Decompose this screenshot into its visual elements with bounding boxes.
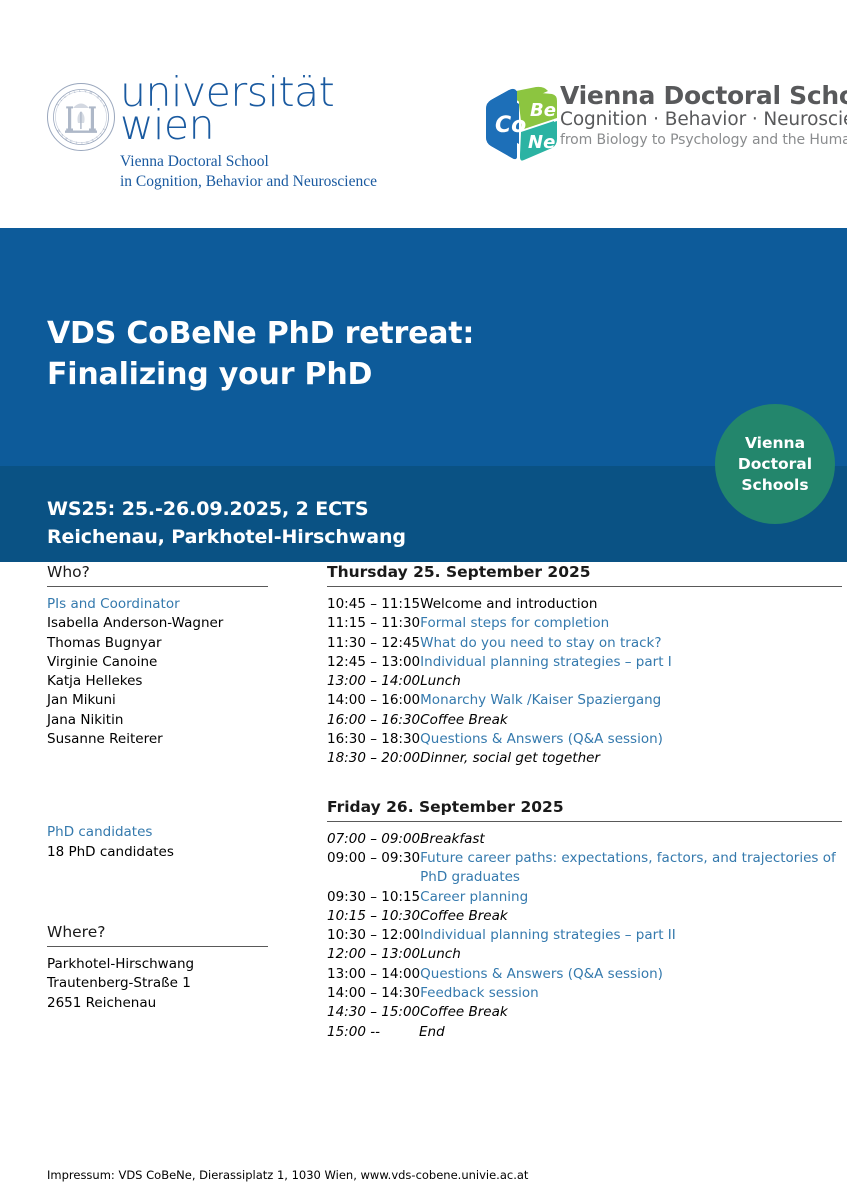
schedule-row: 16:00 – 16:30 Coffee Break — [327, 711, 842, 730]
schedule-title: Individual planning strategies – part II — [420, 926, 842, 945]
badge-line2: Doctoral — [738, 454, 812, 475]
list-item: Katja Hellekes — [47, 672, 311, 691]
schedule-title: Questions & Answers (Q&A session) — [420, 730, 842, 749]
schedule-row: 14:00 – 14:30 Feedback session — [327, 984, 842, 1003]
thursday-heading: Thursday 25. September 2025 — [327, 562, 842, 586]
schedule-row: 11:15 – 11:30 Formal steps for completio… — [327, 614, 842, 633]
schedule-row: 10:15 – 10:30 Coffee Break — [327, 907, 842, 926]
who-heading: Who? — [47, 562, 311, 586]
left-column: Who? PIs and Coordinator Isabella Anders… — [47, 562, 311, 1013]
schedule-row: 09:30 – 10:15 Career planning — [327, 888, 842, 907]
schedule-row: 09:00 – 09:30 Future career paths: expec… — [327, 849, 842, 888]
schedule-time: 16:30 – 18:30 — [327, 730, 420, 749]
venue-name: Parkhotel-Hirschwang — [47, 955, 311, 974]
event-location: Reichenau, Parkhotel-Hirschwang — [47, 523, 406, 551]
where-heading: Where? — [47, 922, 311, 946]
vds-logo-line3: from Biology to Psychology and the Human… — [560, 131, 838, 149]
main-content: Who? PIs and Coordinator Isabella Anders… — [0, 562, 847, 1199]
page-title-line2: Finalizing your PhD — [47, 354, 474, 395]
schedule-time: 12:45 – 13:00 — [327, 653, 420, 672]
impressum-footer: Impressum: VDS CoBeNe, Dierassiplatz 1, … — [47, 1167, 528, 1183]
vds-logo-line1: Vienna Doctoral School — [560, 82, 838, 109]
schedule-time: 10:30 – 12:00 — [327, 926, 420, 945]
phd-candidates-label: PhD candidates — [47, 823, 311, 842]
schedule-title: Breakfast — [420, 830, 842, 849]
uniwien-wordmark: universität wien — [120, 76, 334, 142]
schedule-row: 14:30 – 15:00 Coffee Break — [327, 1003, 842, 1022]
phd-candidates-count: 18 PhD candidates — [47, 843, 311, 862]
schedule-time: 13:00 – 14:00 — [327, 672, 420, 691]
vds-logo-text: Vienna Doctoral School Cognition · Behav… — [560, 82, 838, 149]
schedule-time: 14:30 – 15:00 — [327, 1003, 420, 1022]
title-banner: VDS CoBeNe PhD retreat: Finalizing your … — [0, 228, 847, 562]
phd-candidates-section: PhD candidates 18 PhD candidates — [47, 823, 311, 862]
uniwien-subtitle-line1: Vienna Doctoral School — [120, 152, 377, 172]
svg-text:V: V — [84, 89, 88, 93]
schedule-title: Welcome and introduction — [420, 595, 842, 614]
thursday-divider — [327, 586, 842, 587]
schedule-title: Monarchy Walk /Kaiser Spaziergang — [420, 691, 842, 710]
schedule-title: Formal steps for completion — [420, 614, 842, 633]
schedule-row: 10:30 – 12:00 Individual planning strate… — [327, 926, 842, 945]
spacer — [47, 749, 311, 823]
thursday-schedule: Thursday 25. September 2025 10:45 – 11:1… — [327, 562, 842, 769]
schedule-row: 14:00 – 16:00 Monarchy Walk /Kaiser Spaz… — [327, 691, 842, 710]
event-date-ects: WS25: 25.-26.09.2025, 2 ECTS — [47, 495, 406, 523]
badge-line1: Vienna — [745, 433, 805, 454]
schedule-title: Lunch — [420, 945, 842, 964]
pis-list: Isabella Anderson-Wagner Thomas Bugnyar … — [47, 614, 311, 749]
who-divider — [47, 586, 268, 587]
uniwien-subtitle: Vienna Doctoral School in Cognition, Beh… — [120, 152, 377, 192]
where-divider — [47, 946, 268, 947]
schedule-time: 11:15 – 11:30 — [327, 614, 420, 633]
schedule-title: Career planning — [420, 888, 842, 907]
schedule-title: Questions & Answers (Q&A session) — [420, 965, 842, 984]
schedule-time: 09:00 – 09:30 — [327, 849, 420, 868]
list-item: Isabella Anderson-Wagner — [47, 614, 311, 633]
schedule-time: 10:15 – 10:30 — [327, 907, 420, 926]
schedule-time: 14:00 – 14:30 — [327, 984, 420, 1003]
uniwien-subtitle-line2: in Cognition, Behavior and Neuroscience — [120, 172, 377, 192]
svg-text:M: M — [56, 128, 62, 134]
schedule-title: Lunch — [420, 672, 842, 691]
page-title: VDS CoBeNe PhD retreat: Finalizing your … — [47, 313, 474, 395]
svg-text:M: M — [89, 90, 94, 95]
page-title-line1: VDS CoBeNe PhD retreat: — [47, 313, 474, 354]
spacer — [47, 862, 311, 922]
schedule-time: 09:30 – 10:15 — [327, 888, 420, 907]
schedule-row: 18:30 – 20:00 Dinner, social get togethe… — [327, 749, 842, 768]
schedule-row: 12:45 – 13:00 Individual planning strate… — [327, 653, 842, 672]
page-header: S I G I L L V M A C A S T I E N T I A R — [0, 0, 847, 228]
schedule-time: 18:30 – 20:00 — [327, 749, 420, 768]
schedule-title: Individual planning strategies – part I — [420, 653, 842, 672]
schedule-time: 14:00 – 16:00 — [327, 691, 420, 710]
svg-text:I: I — [59, 98, 63, 102]
vienna-doctoral-school-logo: Co Be Ne Vienna Doctoral School Cognitio… — [478, 82, 838, 162]
pis-and-coordinator-label: PIs and Coordinator — [47, 595, 311, 614]
schedule-title: Coffee Break — [420, 711, 842, 730]
badge-line3: Schools — [741, 475, 808, 496]
schedule-time: 07:00 – 09:00 — [327, 830, 420, 849]
schedule-time: 12:00 – 13:00 — [327, 945, 420, 964]
list-item: Jana Nikitin — [47, 711, 311, 730]
schedule-title: End — [419, 1023, 842, 1042]
schedule-row: 10:45 – 11:15 Welcome and introduction — [327, 595, 842, 614]
friday-divider — [327, 821, 842, 822]
cube-letter-be: Be — [530, 100, 556, 121]
venue-city: 2651 Reichenau — [47, 994, 311, 1013]
schedule-row: 16:30 – 18:30 Questions & Answers (Q&A s… — [327, 730, 842, 749]
schedule-title: Future career paths: expectations, facto… — [420, 849, 842, 888]
schedule-row: 13:00 – 14:00 Lunch — [327, 672, 842, 691]
venue-street: Trautenberg-Straße 1 — [47, 974, 311, 993]
schedule-time: 11:30 – 12:45 — [327, 634, 420, 653]
cube-letter-co: Co — [495, 113, 526, 138]
cobene-cube-logo-icon: Co Be Ne — [478, 82, 560, 162]
list-item: Susanne Reiterer — [47, 730, 311, 749]
who-section: Who? PIs and Coordinator Isabella Anders… — [47, 562, 311, 749]
vienna-doctoral-schools-badge: Vienna Doctoral Schools — [715, 404, 835, 524]
svg-text:L: L — [79, 89, 81, 93]
schedule-title: Feedback session — [420, 984, 842, 1003]
right-column: Thursday 25. September 2025 10:45 – 11:1… — [327, 562, 842, 1042]
schedule-row: 13:00 – 14:00 Questions & Answers (Q&A s… — [327, 965, 842, 984]
svg-text:G: G — [63, 94, 68, 99]
schedule-title: Dinner, social get together — [420, 749, 842, 768]
schedule-time: 16:00 – 16:30 — [327, 711, 420, 730]
list-item: Thomas Bugnyar — [47, 634, 311, 653]
friday-schedule: Friday 26. September 2025 07:00 – 09:00 … — [327, 797, 842, 1042]
schedule-row: 11:30 – 12:45 What do you need to stay o… — [327, 634, 842, 653]
schedule-time: 13:00 – 14:00 — [327, 965, 420, 984]
schedule-row: 07:00 – 09:00 Breakfast — [327, 830, 842, 849]
friday-heading: Friday 26. September 2025 — [327, 797, 842, 821]
cube-letter-ne: Ne — [528, 132, 555, 153]
schedule-title: What do you need to stay on track? — [420, 634, 842, 653]
schedule-time: 15:00 -- — [327, 1023, 419, 1042]
vds-logo-line2: Cognition · Behavior · Neuroscience — [560, 109, 838, 131]
schedule-time: 10:45 – 11:15 — [327, 595, 420, 614]
list-item: Virginie Canoine — [47, 653, 311, 672]
spacer — [327, 769, 842, 797]
list-item: Jan Mikuni — [47, 691, 311, 710]
schedule-title: Coffee Break — [420, 1003, 842, 1022]
svg-text:A: A — [69, 139, 73, 144]
university-seal-icon: S I G I L L V M A C A S T I E N T I A R — [46, 82, 116, 152]
schedule-row: 12:00 – 13:00 Lunch — [327, 945, 842, 964]
where-section: Where? Parkhotel-Hirschwang Trautenberg-… — [47, 922, 311, 1013]
schedule-row: 15:00 -- End — [327, 1023, 842, 1042]
event-details: WS25: 25.-26.09.2025, 2 ECTS Reichenau, … — [47, 495, 406, 551]
university-of-vienna-logo: S I G I L L V M A C A S T I E N T I A R — [46, 80, 446, 200]
schedule-title: Coffee Break — [420, 907, 842, 926]
